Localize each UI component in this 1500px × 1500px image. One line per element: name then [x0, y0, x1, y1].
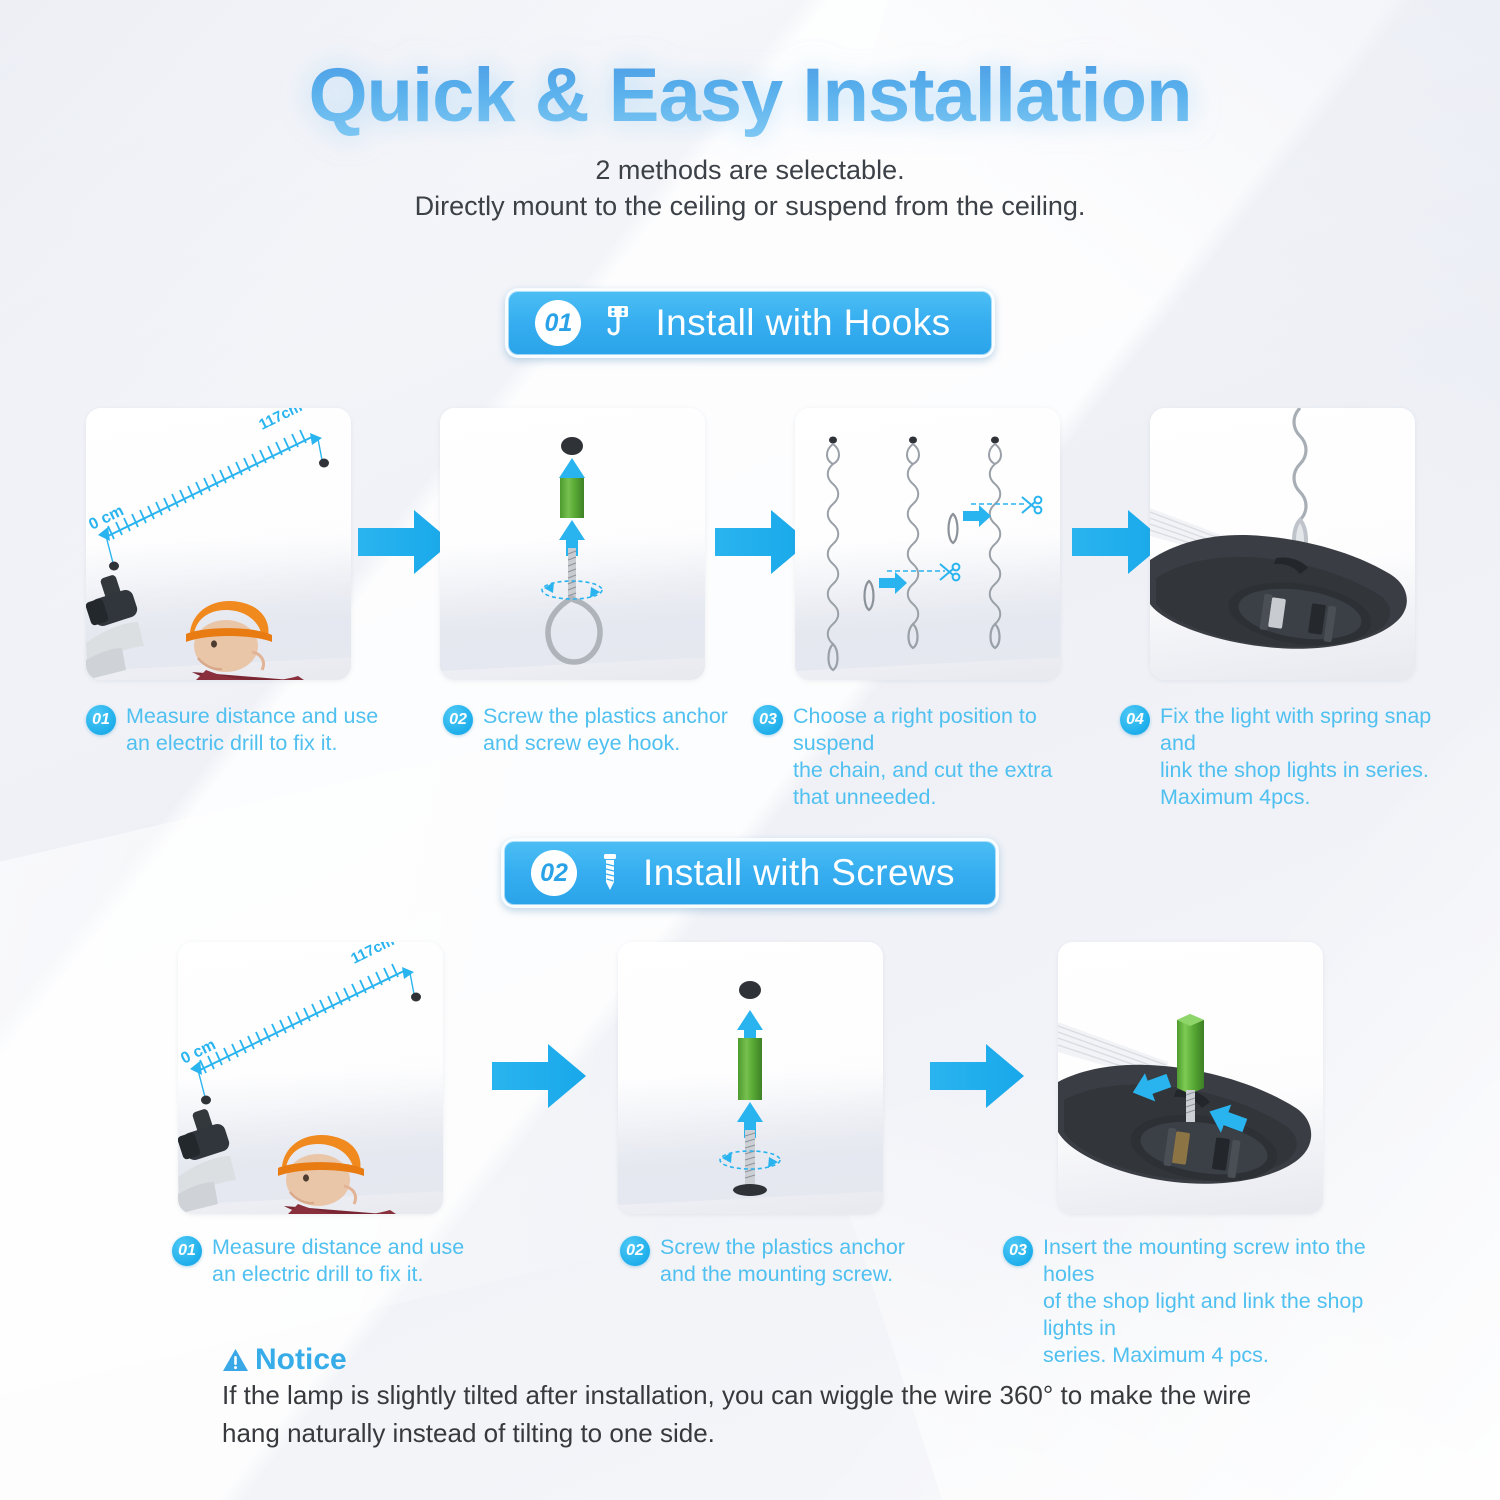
worker-figure [278, 1135, 396, 1214]
illustration-panel-s1-step1: 0 cm 117cm [86, 408, 351, 680]
section-banner-hooks: 01 Install with Hooks [0, 288, 1500, 358]
screw-icon [599, 852, 621, 894]
warning-triangle-icon [222, 1348, 249, 1373]
banner-screws[interactable]: 02 Install with Screws [501, 838, 999, 908]
illustration-panel-s1-step3 [795, 408, 1060, 680]
chain-cut-high [949, 437, 1042, 649]
caption-s1-step1: 01 Measure distance and use an electric … [86, 703, 386, 757]
page-title: Quick & Easy Installation [0, 52, 1500, 139]
illustration-panel-s1-step4 [1150, 408, 1415, 680]
plastic-anchor [560, 478, 584, 518]
chains-graphic [795, 408, 1060, 680]
anchor-eye-hook-graphic [440, 408, 705, 680]
section-banner-screws: 02 Install with Screws [0, 838, 1500, 908]
banner-label-hooks: Install with Hooks [655, 302, 950, 344]
caption-number: 02 [443, 705, 473, 735]
scissors-icon [940, 564, 959, 581]
subtitle-line-1: 2 methods are selectable. [0, 152, 1500, 188]
caption-number: 01 [172, 1236, 202, 1266]
caption-s2-step1: 01 Measure distance and use an electric … [172, 1234, 472, 1288]
installation-infographic: Quick & Easy Installation 2 methods are … [0, 0, 1500, 1500]
illustration-panel-s2-step3 [1058, 942, 1323, 1214]
spring-snap [829, 644, 838, 670]
caption-number: 04 [1120, 705, 1150, 735]
caption-text: Screw the plastics anchor and the mounti… [660, 1234, 905, 1288]
anchor-mounting-screw-graphic [618, 942, 883, 1214]
subtitle-line-2: Directly mount to the ceiling or suspend… [0, 188, 1500, 224]
caption-number: 03 [753, 705, 783, 735]
illustration-panel-s2-step2 [618, 942, 883, 1214]
arrow-s2-1-to-2 [492, 1042, 586, 1110]
caption-text: Screw the plastics anchor and screw eye … [483, 703, 728, 757]
chain-cut-mid [865, 437, 960, 649]
banner-label-screws: Install with Screws [643, 852, 955, 894]
banner-hooks[interactable]: 01 Install with Hooks [505, 288, 994, 358]
notice-body: If the lamp is slightly tilted after ins… [222, 1376, 1302, 1452]
spring-snap [949, 514, 958, 543]
page-subtitle: 2 methods are selectable. Directly mount… [0, 152, 1500, 224]
caption-number: 02 [620, 1236, 650, 1266]
caption-text: Choose a right position to suspend the c… [793, 703, 1093, 811]
notice-header: Notice [222, 1343, 347, 1377]
fixture-spring-snap-graphic [1150, 408, 1415, 680]
chain-full [827, 437, 839, 671]
scissors-icon [1022, 497, 1041, 514]
notice-title: Notice [255, 1343, 347, 1377]
measure-ruler-graphic: 0 cm 117cm [86, 408, 351, 680]
caption-text: Insert the mounting screw into the holes… [1043, 1234, 1413, 1369]
hook-icon [603, 303, 633, 343]
worker-figure [186, 601, 304, 680]
insert-arrow [879, 572, 907, 594]
up-arrow-top [737, 1010, 763, 1042]
caption-number: 01 [86, 705, 116, 735]
spring-snap [865, 581, 874, 610]
arrow-s2-2-to-3 [930, 1042, 1024, 1110]
caption-text: Fix the light with spring snap and link … [1160, 703, 1465, 811]
caption-number: 03 [1003, 1236, 1033, 1266]
arrow-s1-1-to-2 [358, 508, 452, 576]
mounting-screw [733, 1130, 767, 1196]
illustration-panel-s1-step2 [440, 408, 705, 680]
electric-drill-icon [86, 574, 139, 628]
insert-arrow [963, 505, 991, 527]
eye-hook [548, 548, 600, 662]
caption-s2-step3: 03 Insert the mounting screw into the ho… [1003, 1234, 1413, 1369]
screw-head [733, 1184, 767, 1196]
fixture-screw-graphic [1058, 942, 1323, 1214]
measure-end-label: 117cm [256, 408, 305, 434]
banner-number-02: 02 [531, 850, 577, 896]
illustration-panel-s2-step1: 0 cm 117cm [178, 942, 443, 1214]
caption-s2-step2: 02 Screw the plastics anchor and the mou… [620, 1234, 930, 1288]
drilled-hole [561, 437, 583, 455]
measure-ruler-graphic-2: 0 cm 117cm [178, 942, 443, 1214]
banner-number-01: 01 [535, 300, 581, 346]
hanging-chain [1294, 408, 1306, 520]
caption-text: Measure distance and use an electric dri… [212, 1234, 464, 1288]
caption-text: Measure distance and use an electric dri… [126, 703, 378, 757]
plastic-anchor [738, 1038, 762, 1100]
shop-light-fixture [1150, 535, 1407, 654]
measure-end-label: 117cm [348, 942, 397, 968]
caption-s1-step2: 02 Screw the plastics anchor and screw e… [443, 703, 743, 757]
electric-drill-icon [178, 1108, 231, 1162]
caption-s1-step3: 03 Choose a right position to suspend th… [753, 703, 1093, 811]
drilled-hole [739, 981, 761, 999]
caption-s1-step4: 04 Fix the light with spring snap and li… [1120, 703, 1465, 811]
